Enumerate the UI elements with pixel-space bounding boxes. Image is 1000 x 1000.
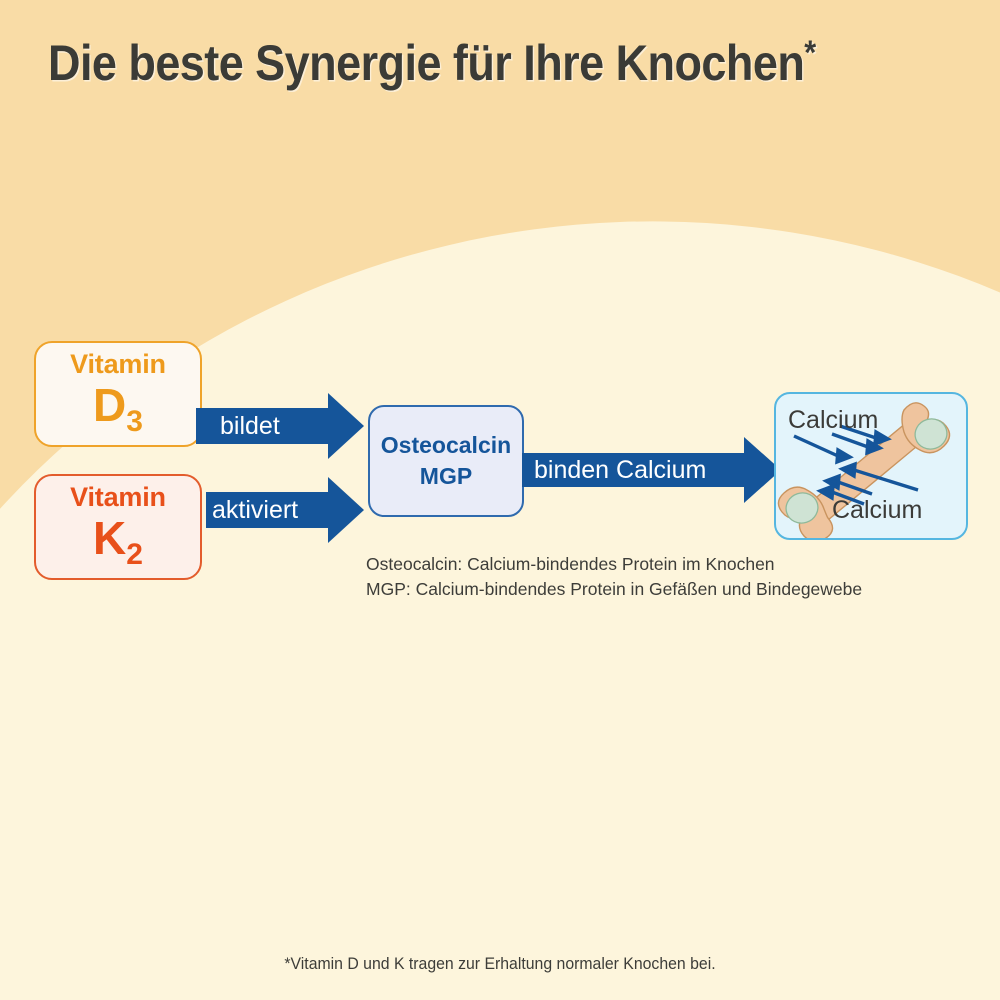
arrow-bildet-label: bildet (220, 414, 280, 439)
arrow-bildet: bildet (196, 408, 328, 444)
vitamin-d3-symbol: D3 (93, 382, 143, 437)
osteocalcin-label: Osteocalcin (381, 430, 511, 461)
legend-block: Osteocalcin: Calcium-bindendes Protein i… (366, 552, 862, 603)
vitamin-k2-name: Vitamin (70, 484, 166, 511)
arrow-binden-calcium: binden Calcium (522, 453, 744, 487)
arrow-head-icon (328, 477, 364, 543)
vitamin-k2-symbol: K2 (93, 515, 143, 570)
infographic-canvas: Die beste Synergie für Ihre Knochen* Vit… (0, 0, 1000, 1000)
bone-illustration-panel[interactable]: Calcium Calcium (774, 392, 968, 540)
vitamin-d3-name: Vitamin (70, 351, 166, 378)
page-title-text: Die beste Synergie für Ihre Knochen (48, 35, 804, 91)
calcium-arrow-head-icon (837, 450, 850, 462)
arrow-aktiviert: aktiviert (206, 492, 328, 528)
footnote: *Vitamin D und K tragen zur Erhaltung no… (35, 954, 965, 974)
node-vitamin-k2[interactable]: Vitamin K2 (34, 474, 202, 580)
arrow-head-icon (328, 393, 364, 459)
calcium-arrow-line (794, 436, 838, 456)
vitamin-d3-letter: D (93, 379, 126, 431)
mgp-label: MGP (420, 461, 472, 492)
calcium-label-top: Calcium (788, 408, 878, 433)
arrow-binden-calcium-label: binden Calcium (534, 458, 706, 483)
legend-line-osteocalcin: Osteocalcin: Calcium-bindendes Protein i… (366, 552, 862, 577)
arrow-aktiviert-label: aktiviert (212, 498, 298, 523)
node-vitamin-d3[interactable]: Vitamin D3 (34, 341, 202, 447)
vitamin-k2-subscript: 2 (126, 538, 143, 571)
vitamin-d3-subscript: 3 (126, 405, 143, 438)
node-osteocalcin-mgp[interactable]: Osteocalcin MGP (368, 405, 524, 517)
legend-line-mgp: MGP: Calcium-bindendes Protein in Gefäße… (366, 577, 862, 602)
calcium-arrow-line (832, 434, 868, 447)
page-title-asterisk: * (804, 34, 815, 72)
vitamin-k2-letter: K (93, 512, 126, 564)
calcium-label-bottom: Calcium (832, 498, 922, 523)
page-title: Die beste Synergie für Ihre Knochen* (48, 34, 816, 92)
